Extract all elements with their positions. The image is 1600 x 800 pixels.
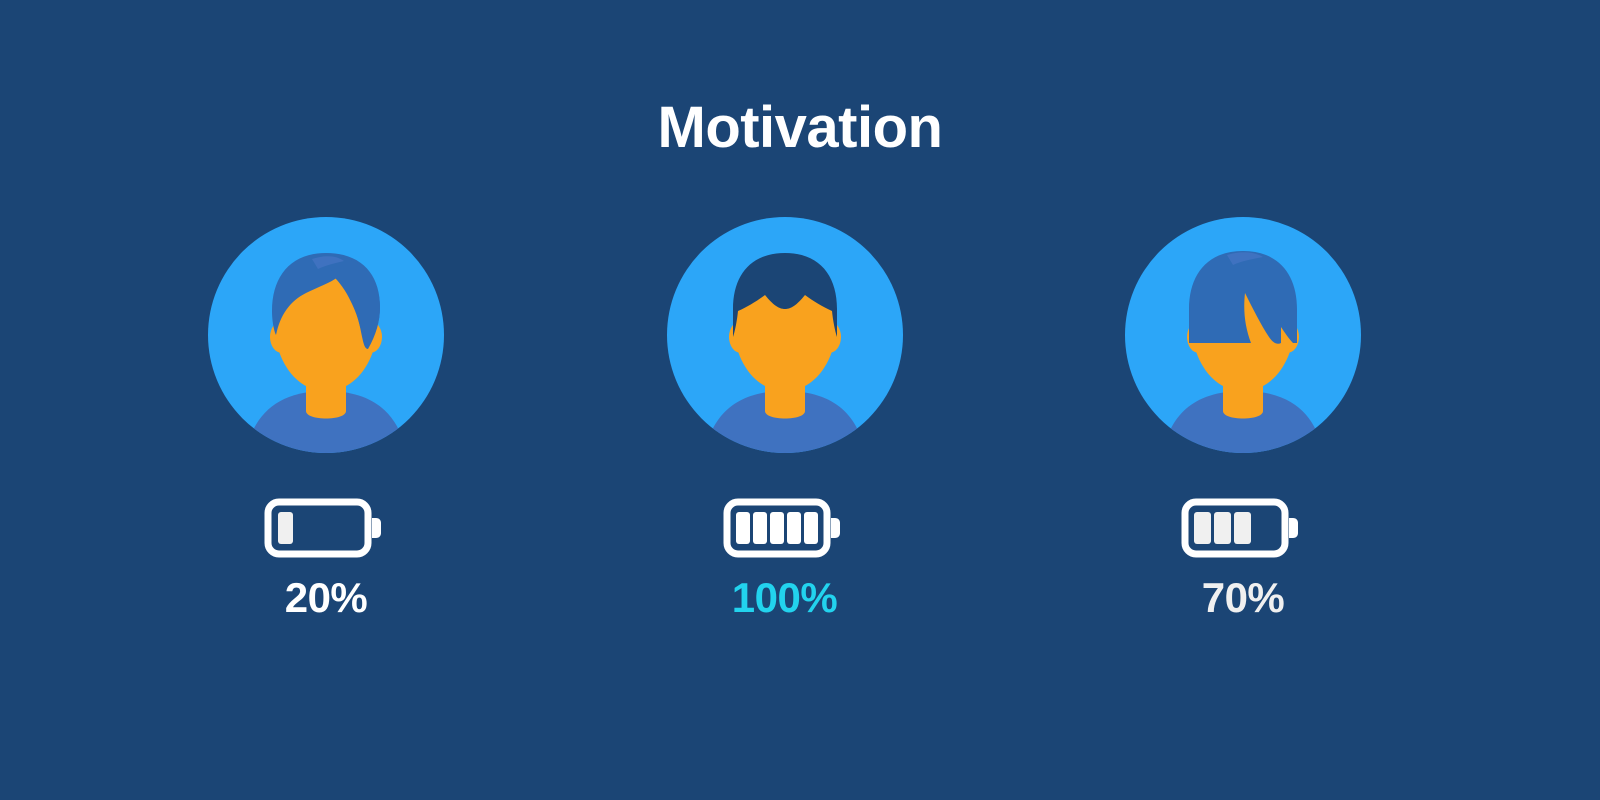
percent-label-3: 70%	[1202, 577, 1285, 619]
person-card-2: 100%	[655, 215, 915, 619]
persons-row: 20%	[196, 215, 1373, 619]
battery-20	[264, 497, 388, 559]
battery-70	[1181, 497, 1305, 559]
infographic-canvas: Motivation	[0, 0, 1600, 800]
page-title: Motivation	[0, 96, 1600, 160]
avatar-female-bangs	[1123, 215, 1363, 455]
percent-label-2: 100%	[732, 577, 837, 619]
person-card-1: 20%	[196, 215, 456, 619]
avatar-male-short-hair	[665, 215, 905, 455]
percent-label-1: 20%	[285, 577, 368, 619]
person-card-3: 70%	[1113, 215, 1373, 619]
avatar-female-side-part	[206, 215, 446, 455]
battery-100	[723, 497, 847, 559]
